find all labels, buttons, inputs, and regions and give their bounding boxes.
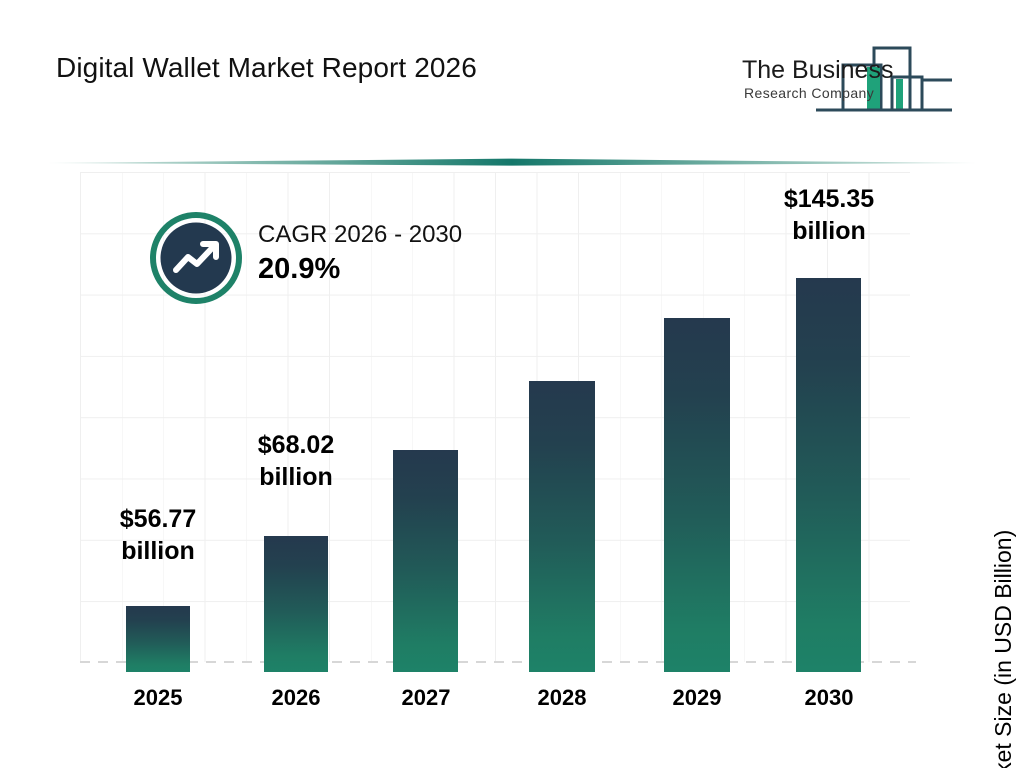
- logo-line2: Research Company: [744, 85, 874, 101]
- y-axis-title: Market Size (in USD Billion): [990, 530, 1017, 768]
- cagr-period-label: CAGR 2026 - 2030: [258, 220, 462, 249]
- x-tick-2026: 2026: [246, 685, 346, 711]
- value-label-2025-unit: billion: [108, 536, 208, 568]
- x-tick-2027: 2027: [376, 685, 476, 711]
- value-label-2030: $145.35 billion: [763, 184, 895, 247]
- cagr-value: 20.9%: [258, 251, 462, 289]
- bar-2027[interactable]: [393, 450, 458, 672]
- value-label-2025: $56.77 billion: [108, 504, 208, 567]
- x-tick-2025: 2025: [108, 685, 208, 711]
- report-page: Digital Wallet Market Report 2026 The Bu…: [0, 0, 1024, 768]
- value-label-2030-amount: $145.35: [763, 184, 895, 216]
- value-label-2026: $68.02 billion: [243, 430, 349, 493]
- bar-2030[interactable]: [796, 278, 861, 672]
- bar-2028[interactable]: [529, 381, 595, 672]
- cagr-text-block: CAGR 2026 - 2030 20.9%: [258, 220, 462, 289]
- page-title: Digital Wallet Market Report 2026: [56, 52, 477, 84]
- x-tick-2030: 2030: [779, 685, 879, 711]
- value-label-2026-unit: billion: [243, 462, 349, 494]
- value-label-2030-unit: billion: [763, 216, 895, 248]
- cagr-badge: CAGR 2026 - 2030 20.9%: [98, 202, 518, 312]
- x-tick-2028: 2028: [512, 685, 612, 711]
- cagr-circle: [150, 212, 242, 304]
- logo-line1: The Business: [742, 56, 893, 84]
- axis-baseline: [80, 661, 916, 663]
- the-business-research-company-logo: The Business Research Company: [736, 34, 976, 126]
- x-tick-2029: 2029: [647, 685, 747, 711]
- value-label-2025-amount: $56.77: [108, 504, 208, 536]
- bar-2025[interactable]: [126, 606, 190, 672]
- value-label-2026-amount: $68.02: [243, 430, 349, 462]
- bar-chart: $56.77 billion $68.02 billion $145.35 bi…: [56, 172, 968, 672]
- header-divider: [48, 156, 976, 168]
- bar-2026[interactable]: [264, 536, 328, 672]
- bar-2029[interactable]: [664, 318, 730, 672]
